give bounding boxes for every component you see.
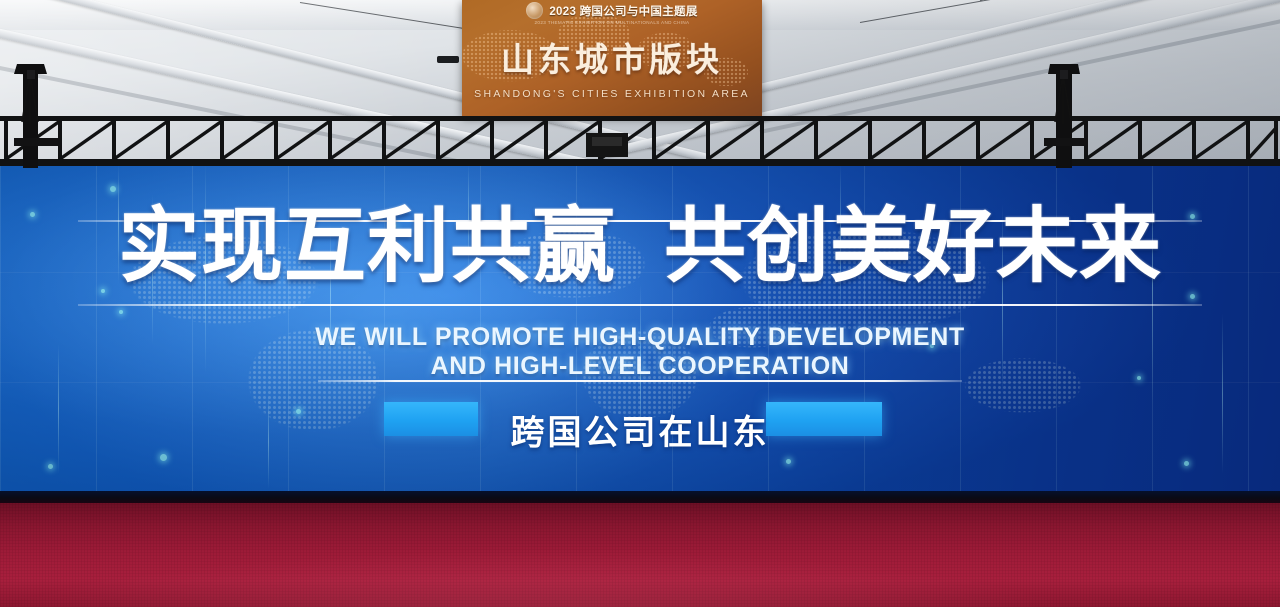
banner-headline-cn: 山东城市版块	[501, 33, 723, 81]
led-screen: 实现互利共赢共创美好未来 WE WILL PROMOTE HIGH-QUALIT…	[0, 164, 1280, 493]
stage-base-shadow	[0, 491, 1280, 503]
banner-headline-en: SHANDONG'S CITIES EXHIBITION AREA	[474, 88, 750, 100]
banner-title-en: 2023 THEMATIC EXHIBITION ON MULTINATIONA…	[462, 20, 762, 25]
hanging-banner: 2023 跨国公司与中国主题展 2023 THEMATIC EXHIBITION…	[462, 0, 762, 116]
led-subtitle-line1: WE WILL PROMOTE HIGH-QUALITY DEVELOPMENT	[0, 325, 1280, 350]
truss-tower-left	[14, 18, 58, 168]
led-subtitle-line2: AND HIGH-LEVEL COOPERATION	[0, 354, 1280, 379]
red-carpet-floor	[0, 503, 1280, 607]
title-rule-bottom	[78, 304, 1202, 306]
truss-tower-right	[1042, 18, 1088, 168]
exhibition-emblem-icon	[526, 2, 543, 19]
led-headline: 实现互利共赢共创美好未来	[0, 206, 1280, 288]
led-footer-cn: 跨国公司在山东	[0, 405, 1280, 454]
stage-truss	[0, 116, 1280, 166]
led-text-block: 实现互利共赢共创美好未来 WE WILL PROMOTE HIGH-QUALIT…	[0, 164, 1280, 493]
headline-part1: 实现互利共赢	[118, 201, 616, 292]
banner-title-cn: 2023 跨国公司与中国主题展	[549, 3, 697, 19]
stage-scene: 2023 跨国公司与中国主题展 2023 THEMATIC EXHIBITION…	[0, 0, 1280, 607]
headline-part2: 共创美好未来	[664, 201, 1162, 292]
subtitle-rule	[318, 380, 962, 382]
